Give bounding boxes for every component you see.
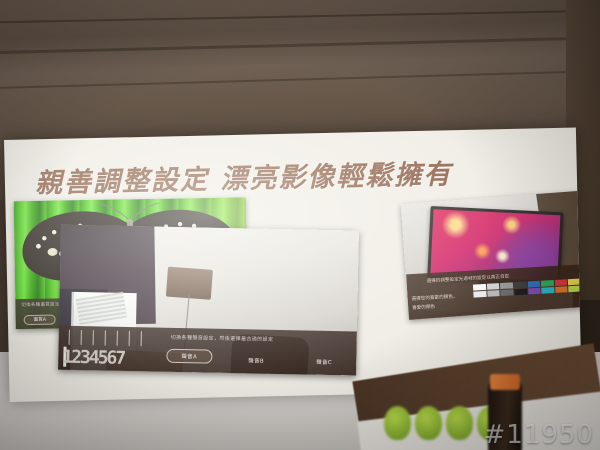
colour-swatch-9[interactable] xyxy=(487,290,500,297)
sound-preset-c-button[interactable]: 聲音C xyxy=(316,358,332,366)
colour-note-line2: 喜愛的顏色 xyxy=(412,304,435,311)
colour-swatch-11[interactable] xyxy=(514,289,527,296)
sound-preset-b-button[interactable]: 聲音B xyxy=(248,356,264,364)
colour-swatch-12[interactable] xyxy=(528,288,541,295)
sound-step-scale[interactable]: 1234567 xyxy=(62,328,149,372)
colour-swatch-0[interactable] xyxy=(473,284,486,291)
colour-swatch-10[interactable] xyxy=(501,289,514,296)
foreground-bottle-cap xyxy=(490,374,520,390)
colour-swatch-2[interactable] xyxy=(500,282,513,289)
watermark: #11950 xyxy=(484,422,595,448)
colour-settings-bar: 選擇的調整設定光適材的設定以真正自定 選擇您的喜歡的顏色， 喜愛的顏色 xyxy=(406,264,581,320)
sound-settings-note: 切換各種聲音設定，然後選擇最合適的設定 xyxy=(171,334,274,343)
photo-scene: 親善調整設定 漂亮影像輕鬆擁有 xyxy=(0,0,600,450)
colour-swatch-8[interactable] xyxy=(473,291,486,298)
ceiling-seam-1 xyxy=(0,9,600,24)
sound-preset-a-button[interactable]: 聲音A xyxy=(166,349,212,364)
sound-settings-bar: 切換各種聲音設定，然後選擇最合適的設定 1234567 聲音A 聲音B 聲音C xyxy=(58,326,357,376)
colour-swatch-13[interactable] xyxy=(541,287,554,294)
colour-swatch-14[interactable] xyxy=(555,286,568,293)
panel-colour-settings[interactable]: 選擇的調整設定光適材的設定以真正自定 選擇您的喜歡的顏色， 喜愛的顏色 xyxy=(401,191,582,320)
colour-swatch-4[interactable] xyxy=(527,281,540,288)
colour-swatch-5[interactable] xyxy=(541,280,554,287)
ceiling-seam-3 xyxy=(0,68,600,90)
colour-swatch-3[interactable] xyxy=(514,282,527,289)
colour-swatch-7[interactable] xyxy=(568,278,581,285)
colour-swatch-grid[interactable] xyxy=(473,278,582,297)
colour-swatch-6[interactable] xyxy=(555,279,568,286)
colour-swatch-1[interactable] xyxy=(487,283,500,290)
panel-sound-settings[interactable]: 切換各種聲音設定，然後選擇最合適的設定 1234567 聲音A 聲音B 聲音C xyxy=(58,225,359,376)
slide-title: 親善調整設定 漂亮影像輕鬆擁有 xyxy=(34,151,515,200)
picture-preset-button[interactable]: 畫質A xyxy=(24,315,57,326)
colour-note-line1: 選擇您的喜歡的顏色， xyxy=(411,293,457,302)
sound-scale-digits: 1234567 xyxy=(62,349,124,368)
ceiling-seam-2 xyxy=(0,35,600,55)
